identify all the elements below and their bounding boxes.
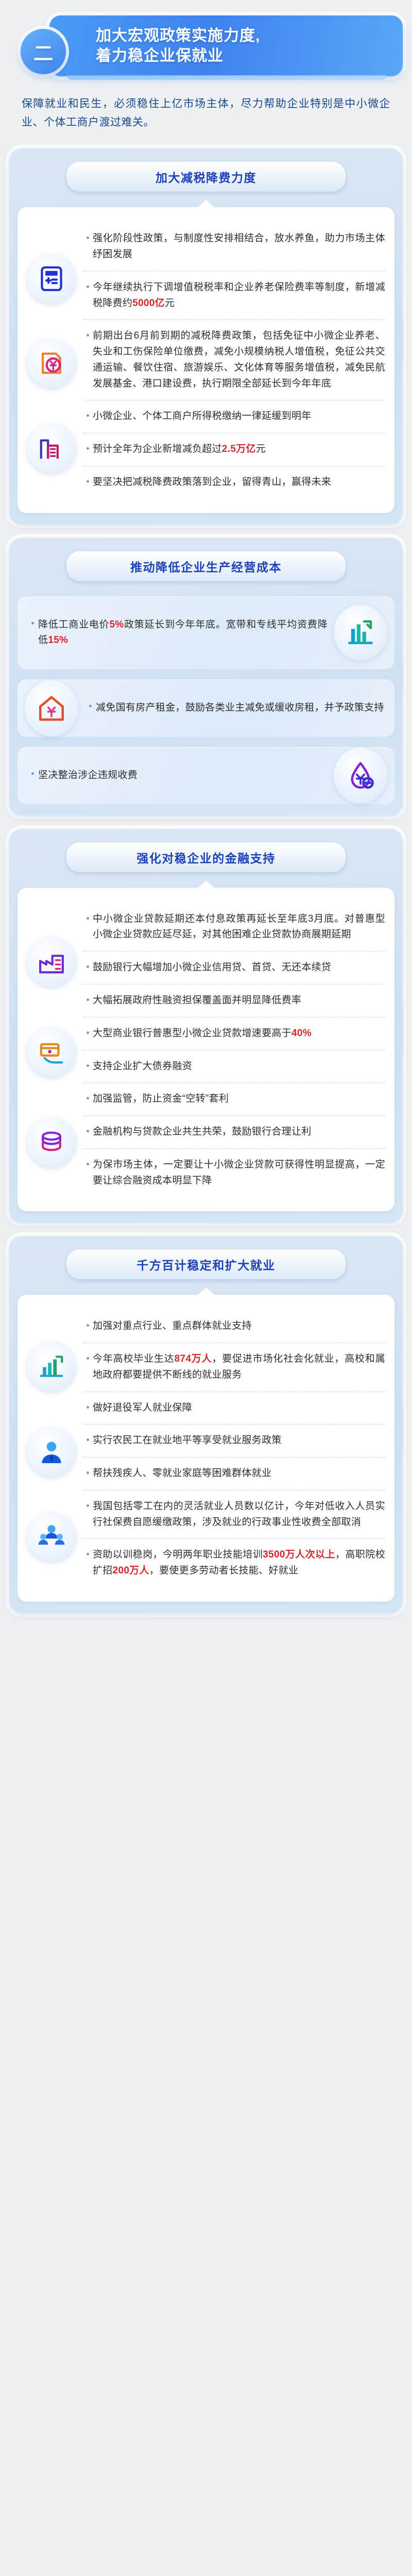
text-fragment: 降低工商业电价 xyxy=(38,619,109,630)
subcard-row: 降低工商业电价5%政策延长到今年年底。宽带和专线平均资费降低15% xyxy=(27,609,328,657)
policy-item: 今年继续执行下调增值税税率和企业养老保险费率等制度，新增减税降费约5000亿元 xyxy=(82,271,385,320)
policy-subcard: 坚决整治涉企违规收费 xyxy=(18,747,394,804)
house-rent-icon xyxy=(25,681,78,736)
coins-stack-icon xyxy=(27,1117,76,1167)
text-fragment: 实行农民工在就业地平等享受就业服务政策 xyxy=(93,1435,282,1446)
section-shell: 推动降低企业生产经营成本降低工商业电价5%政策延长到今年年底。宽带和专线平均资费… xyxy=(9,538,403,816)
page-title-line-1: 加大宏观政策实施力度, xyxy=(96,26,393,46)
text-fragment: ，要使更多劳动者长技能、好就业 xyxy=(149,1565,299,1576)
policy-item: 要坚决把减税降费政策落到企业，留得青山，赢得未来 xyxy=(82,466,385,499)
policy-text: 减免国有房产租金，鼓励各类业主减免或缓收房租，并予政策支持 xyxy=(96,700,385,716)
highlight-value: 200万人 xyxy=(113,1565,149,1576)
page-subtitle: 保障就业和民生，必须稳住上亿市场主体，尽力帮助企业特别是中小微企业、个体工商户渡… xyxy=(0,88,412,145)
policy-section: 加大减税降费力度强化阶段性政策，与制度性安排相结合，放水养鱼，助力市场主体纾困发… xyxy=(0,145,412,534)
policy-text: 为保市场主体，一定要让十小微企业贷款可获得性明显提高，一定要让综合融资成本明显下… xyxy=(93,1157,385,1189)
text-fragment: 今年高校毕业生达 xyxy=(93,1353,175,1364)
highlight-value: 3500万人次以上 xyxy=(263,1549,335,1560)
bullet-marker xyxy=(82,474,93,490)
tax-document-icon xyxy=(27,338,76,388)
policy-card: 强化阶段性政策，与制度性安排相结合，放水养鱼，助力市场主体纾困发展今年继续执行下… xyxy=(18,207,394,513)
policy-item-row: 大型商业银行普惠型小微企业贷款增速要高于40% xyxy=(82,1018,385,1050)
policy-item-row: 前期出台6月前到期的减税降费政策，包括免征中小微企业养老、失业和工伤保险单位缴费… xyxy=(82,320,385,400)
policy-text: 金融机构与贷款企业共生共荣，鼓励银行合理让利 xyxy=(93,1124,385,1140)
policy-text: 降低工商业电价5%政策延长到今年年底。宽带和专线平均资费降低15% xyxy=(38,617,328,649)
highlight-value: 15% xyxy=(48,635,68,646)
policy-item: 今年高校毕业生达874万人，要促进市场化社会化就业，高校和属地政府都要提供不断线… xyxy=(82,1343,385,1392)
text-fragment: 小微企业、个体工商户所得税缴纳一律延缓到明年 xyxy=(93,411,312,421)
header-banner: 加大宏观政策实施力度, 着力稳企业保就业 xyxy=(49,15,403,76)
text-fragment: 加强对重点行业、重点群体就业支持 xyxy=(93,1320,252,1331)
section-title: 千方百计稳定和扩大就业 xyxy=(66,1249,346,1279)
policy-item-row: 资助以训稳岗，今明两年职业技能培训3500万人次以上，高职院校扩招200万人，要… xyxy=(82,1539,385,1587)
policy-item: 为保市场主体，一定要让十小微企业贷款可获得性明显提高，一定要让综合融资成本明显下… xyxy=(82,1148,385,1197)
policy-item-row: 大幅拓展政府性融资担保覆盖面并明显降低费率 xyxy=(82,985,385,1017)
section-title: 强化对稳企业的金融支持 xyxy=(66,842,346,872)
policy-item-row: 帮扶残疾人、零就业家庭等困难群体就业 xyxy=(82,1458,385,1490)
section-title: 加大减税降费力度 xyxy=(66,162,346,192)
policy-card: 中小微企业贷款延期还本付息政策再延长至年底3月底。对普惠型小微企业贷款应延尽延，… xyxy=(18,888,394,1212)
text-fragment: 坚决整治涉企违规收费 xyxy=(38,770,138,781)
text-fragment: 金融机构与贷款企业共生共荣，鼓励银行合理让利 xyxy=(93,1126,312,1137)
policy-subcard: 降低工商业电价5%政策延长到今年年底。宽带和专线平均资费降低15% xyxy=(18,597,394,670)
bullet-marker xyxy=(82,409,93,425)
policy-text: 实行农民工在就业地平等享受就业服务政策 xyxy=(93,1433,385,1449)
text-fragment: 做好退役军人就业保障 xyxy=(93,1402,192,1413)
subcard-row: 坚决整治涉企违规收费 xyxy=(27,759,328,792)
subcard-row: 减免国有房产租金，鼓励各类业主减免或缓收房租，并予政策支持 xyxy=(84,692,385,724)
policy-item: 资助以训稳岗，今明两年职业技能培训3500万人次以上，高职院校扩招200万人，要… xyxy=(82,1538,385,1587)
policy-item: 帮扶残疾人、零就业家庭等困难群体就业 xyxy=(82,1457,385,1490)
policy-text: 大幅拓展政府性融资担保覆盖面并明显降低费率 xyxy=(93,993,385,1009)
policy-item: 我国包括零工在内的灵活就业人员数以亿计，今年对低收入人员实行社保费自愿缓缴政策，… xyxy=(82,1490,385,1539)
text-fragment: 元 xyxy=(256,444,266,454)
section-shell: 千方百计稳定和扩大就业加强对重点行业、重点群体就业支持今年高校毕业生达874万人… xyxy=(9,1236,403,1613)
bullet-marker xyxy=(82,1547,93,1579)
page-header: 二 加大宏观政策实施力度, 着力稳企业保就业 xyxy=(0,0,412,88)
bullet-marker xyxy=(82,1124,93,1140)
section-title: 推动降低企业生产经营成本 xyxy=(66,551,346,581)
policy-text: 中小微企业贷款延期还本付息政策再延长至年底3月底。对普惠型小微企业贷款应延尽延，… xyxy=(93,911,385,943)
factory-loan-icon xyxy=(27,937,76,987)
policy-text: 预计全年为企业新增减负超过2.5万亿元 xyxy=(93,442,385,457)
text-fragment: 预计全年为企业新增减负超过 xyxy=(93,444,222,454)
highlight-value: 40% xyxy=(291,1028,312,1039)
policy-item-row: 加强监管，防止资金“空转”套利 xyxy=(82,1083,385,1115)
person-worker-icon xyxy=(27,1427,76,1477)
policy-item: 鼓励银行大幅增加小微企业信用贷、首贷、无还本续贷 xyxy=(82,951,385,984)
policy-text: 加强监管，防止资金“空转”套利 xyxy=(93,1091,385,1107)
policy-card: 加强对重点行业、重点群体就业支持今年高校毕业生达874万人，要促进市场化社会化就… xyxy=(18,1295,394,1602)
text-fragment: 帮扶残疾人、零就业家庭等困难群体就业 xyxy=(93,1468,271,1479)
bullet-marker xyxy=(82,1091,93,1107)
text-fragment: 支持企业扩大债券融资 xyxy=(93,1061,192,1072)
policy-item: 做好退役军人就业保障 xyxy=(82,1392,385,1425)
bottom-spacer xyxy=(0,1623,412,1644)
policy-item: 加强监管，防止资金“空转”套利 xyxy=(82,1082,385,1115)
policy-item: 中小微企业贷款延期还本付息政策再延长至年底3月底。对普惠型小微企业贷款应延尽延，… xyxy=(82,903,385,952)
policy-section: 强化对稳企业的金融支持中小微企业贷款延期还本付息政策再延长至年底3月底。对普惠型… xyxy=(0,826,412,1233)
policy-item-row: 今年继续执行下调增值税税率和企业养老保险费率等制度，新增减税降费约5000亿元 xyxy=(82,272,385,320)
tax-calculator-icon xyxy=(27,254,76,303)
text-fragment: 元 xyxy=(165,298,175,309)
policy-section: 千方百计稳定和扩大就业加强对重点行业、重点群体就业支持今年高校毕业生达874万人… xyxy=(0,1233,412,1623)
highlight-value: 2.5万亿 xyxy=(222,444,256,454)
bullet-marker xyxy=(82,960,93,976)
policy-item: 加强对重点行业、重点群体就业支持 xyxy=(82,1310,385,1343)
policy-item-row: 鼓励银行大幅增加小微企业信用贷、首贷、无还本续贷 xyxy=(82,952,385,984)
policy-item: 大幅拓展政府性融资担保覆盖面并明显降低费率 xyxy=(82,984,385,1017)
highlight-value: 5000亿 xyxy=(132,298,165,309)
bullet-marker xyxy=(84,700,96,716)
text-fragment: 要坚决把减税降费政策落到企业，留得青山，赢得未来 xyxy=(93,477,331,487)
policy-item: 实行农民工在就业地平等享受就业服务政策 xyxy=(82,1424,385,1457)
bullet-marker xyxy=(82,1059,93,1075)
policy-text: 帮扶残疾人、零就业家庭等困难群体就业 xyxy=(93,1466,385,1482)
page-title-line-2: 着力稳企业保就业 xyxy=(96,46,393,66)
text-fragment: 强化阶段性政策，与制度性安排相结合，放水养鱼，助力市场主体纾困发展 xyxy=(93,233,385,260)
policy-item-row: 我国包括零工在内的灵活就业人员数以亿计，今年对低收入人员实行社保费自愿缓缴政策，… xyxy=(82,1490,385,1539)
text-fragment: 大型商业银行普惠型小微企业贷款增速要高于 xyxy=(93,1028,291,1039)
policy-item: 前期出台6月前到期的减税降费政策，包括免征中小微企业养老、失业和工伤保险单位缴费… xyxy=(82,319,385,400)
growth-chart-icon xyxy=(27,1342,76,1391)
policy-subcard: 减免国有房产租金，鼓励各类业主减免或缓收房租，并予政策支持 xyxy=(18,680,394,737)
policy-text: 加强对重点行业、重点群体就业支持 xyxy=(93,1318,385,1334)
section-shell: 强化对稳企业的金融支持中小微企业贷款延期还本付息政策再延长至年底3月底。对普惠型… xyxy=(9,829,403,1223)
bullet-marker xyxy=(82,1433,93,1449)
bullet-marker xyxy=(82,1466,93,1482)
policy-text: 鼓励银行大幅增加小微企业信用贷、首贷、无还本续贷 xyxy=(93,960,385,976)
policy-item-row: 中小微企业贷款延期还本付息政策再延长至年底3月底。对普惠型小微企业贷款应延尽延，… xyxy=(82,903,385,952)
bullet-marker xyxy=(82,1026,93,1042)
policy-text: 小微企业、个体工商户所得税缴纳一律延缓到明年 xyxy=(93,409,385,425)
bullet-marker xyxy=(82,442,93,457)
bullet-marker xyxy=(82,231,93,263)
policy-item-row: 要坚决把减税降费政策落到企业，留得青山，赢得未来 xyxy=(82,466,385,499)
policy-text: 资助以训稳岗，今明两年职业技能培训3500万人次以上，高职院校扩招200万人，要… xyxy=(93,1547,385,1579)
policy-item: 大型商业银行普惠型小微企业贷款增速要高于40% xyxy=(82,1017,385,1050)
policy-item: 金融机构与贷款企业共生共荣，鼓励银行合理让利 xyxy=(82,1115,385,1148)
policy-text: 做好退役军人就业保障 xyxy=(93,1400,385,1416)
text-fragment: 资助以训稳岗，今明两年职业技能培训 xyxy=(93,1549,263,1560)
policy-text: 支持企业扩大债券融资 xyxy=(93,1059,385,1075)
policy-text: 今年高校毕业生达874万人，要促进市场化社会化就业，高校和属地政府都要提供不断线… xyxy=(93,1351,385,1383)
bullet-marker xyxy=(82,1499,93,1531)
policy-item-row: 预计全年为企业新增减负超过2.5万亿元 xyxy=(82,433,385,466)
people-group-icon xyxy=(27,1512,76,1562)
policy-item-row: 加强对重点行业、重点群体就业支持 xyxy=(82,1310,385,1343)
policy-item: 支持企业扩大债券融资 xyxy=(82,1050,385,1083)
bullet-marker xyxy=(82,993,93,1009)
sections-container: 加大减税降费力度强化阶段性政策，与制度性安排相结合，放水养鱼，助力市场主体纾困发… xyxy=(0,145,412,1623)
policy-item-row: 实行农民工在就业地平等享受就业服务政策 xyxy=(82,1425,385,1457)
text-fragment: 我国包括零工在内的灵活就业人员数以亿计，今年对低收入人员实行社保费自愿缓缴政策，… xyxy=(93,1501,385,1528)
header-underline-decoration xyxy=(67,75,386,80)
policy-text: 今年继续执行下调增值税税率和企业养老保险费率等制度，新增减税降费约5000亿元 xyxy=(93,280,385,312)
bullet-marker xyxy=(82,1351,93,1383)
bullet-marker xyxy=(82,280,93,312)
policy-text: 坚决整治涉企违规收费 xyxy=(38,768,328,784)
text-fragment: 大幅拓展政府性融资担保覆盖面并明显降低费率 xyxy=(93,995,301,1006)
building-chart-icon xyxy=(27,423,76,473)
text-fragment: 前期出台6月前到期的减税降费政策，包括免征中小微企业养老、失业和工伤保险单位缴费… xyxy=(93,330,385,388)
policy-item: 预计全年为企业新增减负超过2.5万亿元 xyxy=(82,433,385,466)
highlight-value: 5% xyxy=(109,619,124,630)
policy-item-row: 今年高校毕业生达874万人，要促进市场化社会化就业，高校和属地政府都要提供不断线… xyxy=(82,1343,385,1392)
text-fragment: 加强监管，防止资金“空转”套利 xyxy=(93,1093,229,1104)
bullet-marker xyxy=(82,1318,93,1334)
bullet-marker xyxy=(27,768,38,784)
policy-text: 前期出台6月前到期的减税降费政策，包括免征中小微企业养老、失业和工伤保险单位缴费… xyxy=(93,328,385,392)
policy-item-row: 小微企业、个体工商户所得税缴纳一律延缓到明年 xyxy=(82,400,385,433)
bullet-marker xyxy=(82,911,93,943)
policy-item: 强化阶段性政策，与制度性安排相结合，放水养鱼，助力市场主体纾困发展 xyxy=(82,223,385,271)
bullet-marker xyxy=(82,328,93,392)
bullet-marker xyxy=(82,1157,93,1189)
section-shell: 加大减税降费力度强化阶段性政策，与制度性安排相结合，放水养鱼，助力市场主体纾困发… xyxy=(9,148,403,524)
text-fragment: 中小微企业贷款延期还本付息政策再延长至年底3月底。对普惠型小微企业贷款应延尽延，… xyxy=(93,913,385,940)
text-fragment: 减免国有房产租金，鼓励各类业主减免或缓收房租，并予政策支持 xyxy=(96,702,384,713)
text-fragment: 为保市场主体，一定要让十小微企业贷款可获得性明显提高，一定要让综合融资成本明显下… xyxy=(93,1159,385,1186)
fee-drop-icon xyxy=(334,748,387,803)
policy-item-row: 为保市场主体，一定要让十小微企业贷款可获得性明显提高，一定要让综合融资成本明显下… xyxy=(82,1149,385,1197)
credit-hand-icon xyxy=(27,1027,76,1077)
policy-item-row: 强化阶段性政策，与制度性安排相结合，放水养鱼，助力市场主体纾困发展 xyxy=(82,223,385,271)
bar-chart-down-icon xyxy=(334,605,387,660)
section-number-badge: 二 xyxy=(21,29,66,74)
bullet-marker xyxy=(27,617,38,649)
policy-text: 我国包括零工在内的灵活就业人员数以亿计，今年对低收入人员实行社保费自愿缓缴政策，… xyxy=(93,1499,385,1531)
policy-item-row: 支持企业扩大债券融资 xyxy=(82,1050,385,1083)
policy-item: 小微企业、个体工商户所得税缴纳一律延缓到明年 xyxy=(82,400,385,433)
policy-text: 大型商业银行普惠型小微企业贷款增速要高于40% xyxy=(93,1026,385,1042)
text-fragment: 鼓励银行大幅增加小微企业信用贷、首贷、无还本续贷 xyxy=(93,962,331,973)
highlight-value: 874万人 xyxy=(175,1353,212,1364)
policy-item-row: 金融机构与贷款企业共生共荣，鼓励银行合理让利 xyxy=(82,1116,385,1148)
bullet-marker xyxy=(82,1400,93,1416)
policy-text: 强化阶段性政策，与制度性安排相结合，放水养鱼，助力市场主体纾困发展 xyxy=(93,231,385,263)
policy-item-row: 做好退役军人就业保障 xyxy=(82,1392,385,1425)
policy-text: 要坚决把减税降费政策落到企业，留得青山，赢得未来 xyxy=(93,474,385,490)
policy-section: 推动降低企业生产经营成本降低工商业电价5%政策延长到今年年底。宽带和专线平均资费… xyxy=(0,535,412,826)
